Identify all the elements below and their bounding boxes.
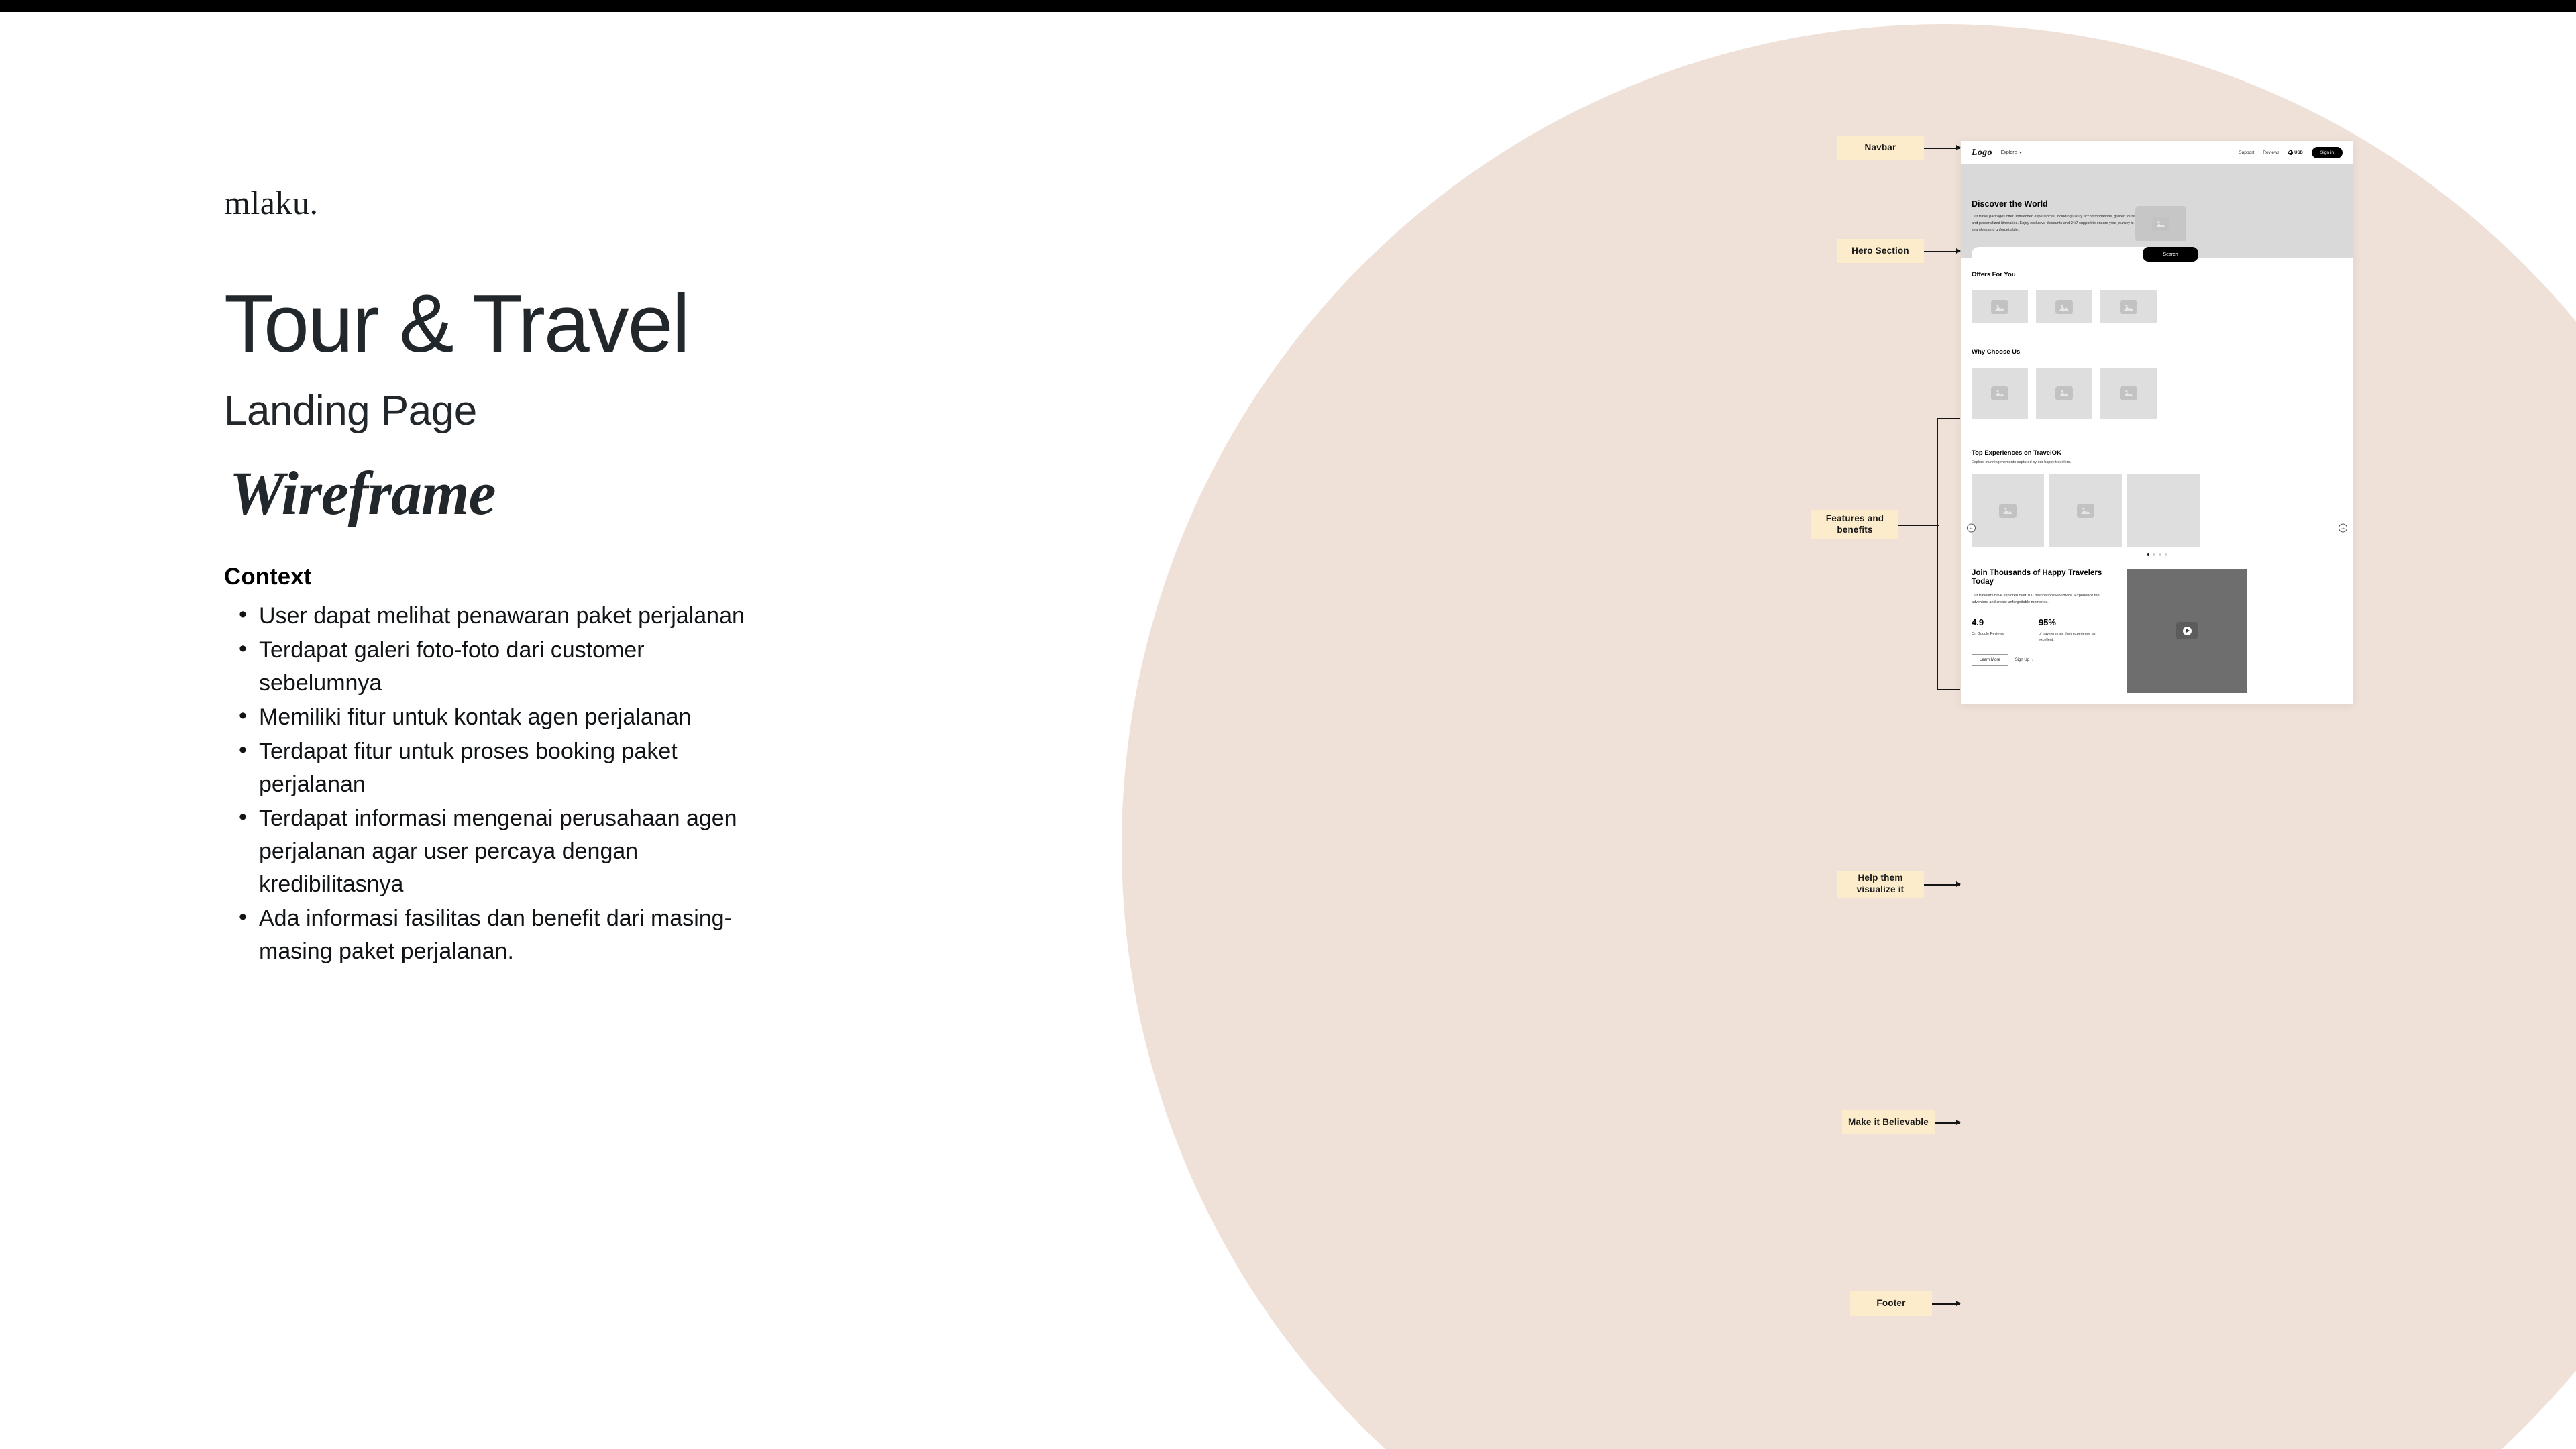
leader-line-navbar: [1924, 148, 1960, 149]
image-icon: [2120, 386, 2137, 400]
wf-stat-label: On Google Reviews: [1972, 631, 2004, 637]
list-item: Terdapat galeri foto-foto dari customer …: [224, 634, 754, 700]
image-icon: [2055, 386, 2073, 400]
wf-offer-card[interactable]: [2100, 290, 2157, 323]
wf-nav-support[interactable]: Support: [2239, 150, 2254, 155]
wf-cta-row: Learn More Sign Up ›: [1972, 654, 2116, 666]
decorative-circle: [1122, 24, 2576, 1449]
poster-stage: mlaku. Tour & Travel Landing Page Wirefr…: [0, 12, 2576, 1449]
wf-nav-right: Support Reviews USD Sign in: [2239, 147, 2343, 158]
carousel-next-arrow-icon[interactable]: →: [2339, 524, 2347, 533]
wf-carousel-slide[interactable]: [1972, 474, 2044, 547]
wf-carousel-slide[interactable]: [2049, 474, 2122, 547]
wf-hero-image-placeholder: [2135, 206, 2186, 241]
wf-carousel-slide[interactable]: [2127, 474, 2200, 547]
carousel-dot[interactable]: [2165, 553, 2167, 556]
page-title: Tour & Travel: [224, 282, 801, 364]
wf-why-section: Why Choose Us: [1961, 323, 2353, 419]
leader-line-hero: [1924, 251, 1960, 252]
wf-carousel-dots: [1972, 553, 2343, 556]
wf-offers-grid: [1972, 290, 2343, 323]
wf-believable-body: Our travelers have explored over 100 des…: [1972, 593, 2116, 606]
annotation-believable: Make it Believable: [1842, 1110, 1935, 1134]
wf-search-button[interactable]: Search: [2143, 247, 2198, 262]
wf-stat: 95% of travelers rate their experience a…: [2039, 617, 2096, 643]
image-icon: [1991, 300, 2008, 314]
annotation-hero: Hero Section: [1837, 239, 1924, 263]
leader-line-believable: [1935, 1122, 1960, 1124]
wf-why-card[interactable]: [2100, 368, 2157, 419]
list-item: Terdapat informasi mengenai perusahaan a…: [224, 802, 754, 901]
wf-signup-link[interactable]: Sign Up ›: [2015, 658, 2033, 662]
wf-signup-label: Sign Up: [2015, 658, 2029, 662]
wf-video-placeholder[interactable]: [2127, 569, 2247, 693]
wireframe-mockup: Logo Explore Support Reviews USD Sign in: [1961, 141, 2353, 704]
wf-hero-section: Discover the World Our travel packages o…: [1961, 164, 2353, 258]
image-icon: [1991, 386, 2008, 400]
wf-believable-copy: Join Thousands of Happy Travelers Today …: [1972, 569, 2116, 693]
carousel-dot[interactable]: [2153, 553, 2155, 556]
wf-stat-value: 95%: [2039, 617, 2096, 627]
wf-footer-section: Logo Quick Links About Us Contact Us Cus…: [1961, 693, 2353, 704]
poster-text-column: mlaku. Tour & Travel Landing Page Wirefr…: [224, 183, 801, 969]
wf-offers-title: Offers For You: [1972, 271, 2343, 278]
carousel-prev-arrow-icon[interactable]: ←: [1967, 524, 1976, 533]
play-icon: [2183, 627, 2192, 635]
wf-nav-left: Logo Explore: [1972, 148, 2022, 158]
chevron-right-icon: ›: [2032, 658, 2033, 662]
context-list: User dapat melihat penawaran paket perja…: [224, 600, 801, 967]
wf-why-card[interactable]: [1972, 368, 2028, 419]
wf-why-card[interactable]: [2036, 368, 2092, 419]
wf-learn-more-button[interactable]: Learn More: [1972, 654, 2008, 666]
wf-hero-body: Our travel packages offer unmatched expe…: [1972, 214, 2138, 233]
page-subtitle: Landing Page: [224, 387, 801, 435]
annotation-visualize: Help them visualize it: [1837, 871, 1924, 898]
wf-signin-button[interactable]: Sign in: [2312, 147, 2343, 158]
wf-offer-card[interactable]: [2036, 290, 2092, 323]
list-item: Memiliki fitur untuk kontak agen perjala…: [224, 701, 754, 734]
image-icon: [2077, 504, 2094, 518]
leader-line-visualize: [1924, 884, 1960, 885]
wf-stat-value: 4.9: [1972, 617, 2004, 627]
wf-offer-card[interactable]: [1972, 290, 2028, 323]
list-item: Ada informasi fasilitas dan benefit dari…: [224, 902, 754, 968]
wf-stat-label: of travelers rate their experience as ex…: [2039, 631, 2096, 643]
list-item: Terdapat fitur untuk proses booking pake…: [224, 735, 754, 801]
video-icon: [2176, 622, 2198, 639]
wf-navbar: Logo Explore Support Reviews USD Sign in: [1961, 141, 2353, 164]
brand-wordmark: mlaku.: [224, 183, 801, 222]
chevron-down-icon: [2019, 152, 2022, 154]
wf-why-title: Why Choose Us: [1972, 348, 2343, 356]
wf-experiences-title: Top Experiences on TravelOK: [1972, 449, 2343, 457]
image-icon: [2120, 300, 2137, 314]
context-heading: Context: [224, 563, 801, 590]
wf-carousel-track: [1972, 474, 2343, 547]
wf-nav-explore-label: Explore: [2001, 150, 2017, 155]
wf-hero-title: Discover the World: [1972, 199, 2048, 209]
wf-offers-section: Offers For You: [1961, 258, 2353, 323]
annotation-footer: Footer: [1850, 1291, 1932, 1316]
page-kicker: Wireframe: [229, 458, 801, 529]
annotation-features: Features and benefits: [1811, 510, 1898, 539]
wf-believable-section: Join Thousands of Happy Travelers Today …: [1961, 556, 2353, 693]
features-bracket: [1937, 418, 1960, 690]
wf-believable-title: Join Thousands of Happy Travelers Today: [1972, 569, 2116, 588]
wf-logo[interactable]: Logo: [1972, 148, 1992, 158]
globe-icon: [2288, 150, 2293, 155]
image-icon: [2055, 300, 2073, 314]
wf-stats-row: 4.9 On Google Reviews 95% of travelers r…: [1972, 617, 2116, 643]
features-bracket-stem: [1898, 525, 1939, 526]
wf-nav-explore[interactable]: Explore: [2001, 150, 2022, 155]
image-icon: [2152, 217, 2169, 231]
wf-stat: 4.9 On Google Reviews: [1972, 617, 2004, 643]
annotation-navbar: Navbar: [1837, 136, 1924, 160]
wf-currency-switcher[interactable]: USD: [2288, 150, 2303, 155]
leader-line-footer: [1932, 1303, 1960, 1305]
wf-search-bar[interactable]: Search: [1972, 247, 2198, 262]
top-black-bar: [0, 0, 2576, 12]
carousel-dot[interactable]: [2147, 553, 2150, 556]
wf-experiences-section: Top Experiences on TravelOK Explore stun…: [1961, 419, 2353, 556]
list-item: User dapat melihat penawaran paket perja…: [224, 600, 754, 633]
wf-why-grid: [1972, 368, 2343, 419]
image-icon: [1999, 504, 2017, 518]
wf-experiences-subtitle: Explore stunning moments captured by our…: [1972, 460, 2343, 464]
carousel-dot[interactable]: [2159, 553, 2161, 556]
wf-nav-reviews[interactable]: Reviews: [2263, 150, 2279, 155]
wf-currency-label: USD: [2294, 151, 2303, 155]
